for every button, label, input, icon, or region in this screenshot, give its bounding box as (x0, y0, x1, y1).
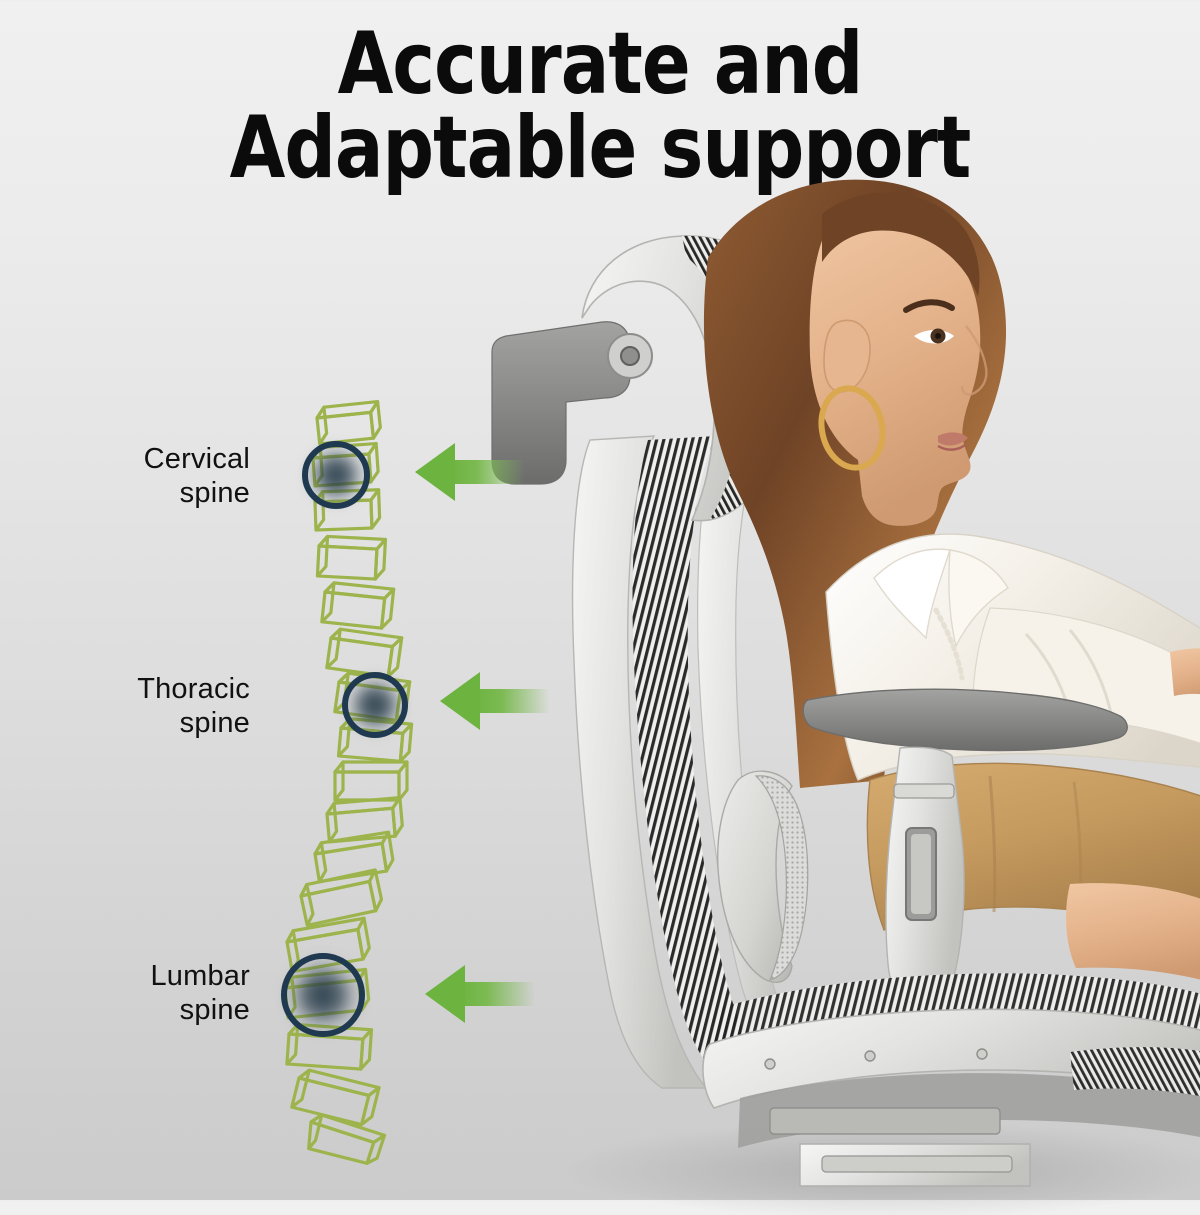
label-lumbar-line1: Lumbar (150, 960, 250, 992)
arrow-cervical-tail (447, 460, 525, 484)
label-cervical-line1: Cervical (144, 443, 250, 475)
highlight-circle-lumbar (281, 953, 365, 1037)
label-thoracic-spine: Thoracic spine (40, 673, 250, 741)
leg (1066, 883, 1200, 986)
arrow-cervical-head (415, 443, 455, 501)
label-lumbar-line2: spine (40, 994, 250, 1028)
label-thoracic-line2: spine (40, 707, 250, 741)
highlight-circle-thoracic (342, 672, 408, 738)
spine-illustration (255, 410, 445, 1170)
product-photo-woman-in-ergonomic-chair (470, 140, 1200, 1215)
label-cervical-line2: spine (40, 477, 250, 511)
chair-lumbar-support (718, 771, 808, 982)
arrow-thoracic-tail (472, 689, 550, 713)
title-line-1: Accurate and (42, 22, 1158, 106)
poster-canvas: Accurate and Adaptable support (0, 0, 1200, 1200)
arrow-lumbar (425, 965, 535, 1023)
highlight-circle-cervical (302, 441, 370, 509)
label-thoracic-line1: Thoracic (137, 673, 250, 705)
arrow-thoracic (440, 672, 550, 730)
vertebra-stack (284, 402, 412, 1170)
label-lumbar-spine: Lumbar spine (40, 960, 250, 1028)
forearm-hand (1170, 648, 1200, 700)
arrow-cervical (415, 443, 525, 501)
arrow-lumbar-head (425, 965, 465, 1023)
arrow-thoracic-head (440, 672, 480, 730)
label-cervical-spine: Cervical spine (40, 443, 250, 511)
arrow-lumbar-tail (457, 982, 535, 1006)
